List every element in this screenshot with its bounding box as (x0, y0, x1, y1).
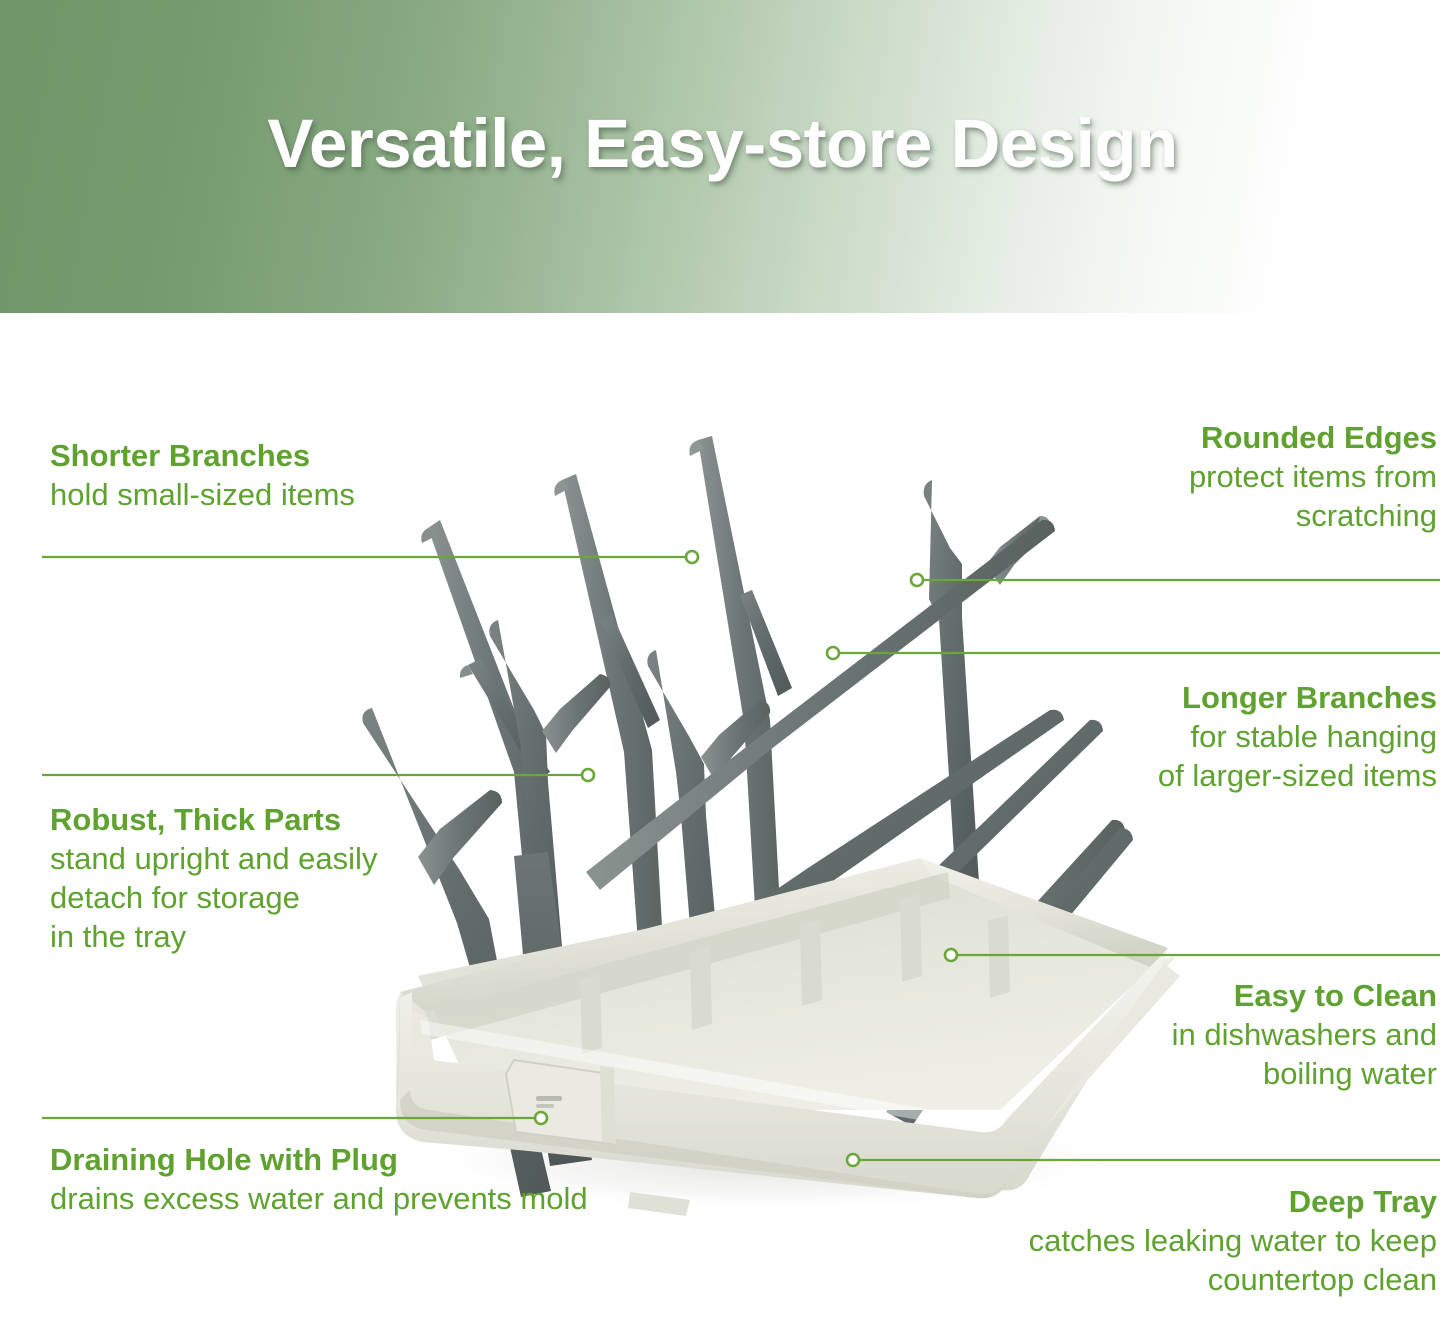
callout-title-rounded-edges: Rounded Edges (877, 418, 1437, 457)
callout-body-deep-tray-line2: countertop clean (797, 1260, 1437, 1299)
draining-plug (506, 1060, 616, 1144)
callout-body-longer-branches-line2: of larger-sized items (877, 756, 1437, 795)
callout-title-easy-to-clean: Easy to Clean (877, 976, 1437, 1015)
callout-deep-tray: Deep Tray catches leaking water to keep … (797, 1182, 1437, 1299)
page-title: Versatile, Easy-store Design (0, 104, 1445, 183)
callout-rounded-edges: Rounded Edges protect items from scratch… (877, 418, 1437, 535)
callout-robust-thick-parts: Robust, Thick Parts stand upright and ea… (50, 800, 570, 956)
callout-body-easy-to-clean-line1: in dishwashers and (877, 1015, 1437, 1054)
callout-body-robust-line1: stand upright and easily (50, 839, 570, 878)
callout-title-robust-thick-parts: Robust, Thick Parts (50, 800, 570, 839)
callout-title-draining-hole: Draining Hole with Plug (50, 1140, 830, 1179)
callout-body-easy-to-clean-line2: boiling water (877, 1054, 1437, 1093)
callout-body-robust-line3: in the tray (50, 917, 570, 956)
callout-body-rounded-edges-line1: protect items from (877, 457, 1437, 496)
callout-body-deep-tray-line1: catches leaking water to keep (797, 1221, 1437, 1260)
callout-body-rounded-edges-line2: scratching (877, 496, 1437, 535)
callout-title-longer-branches: Longer Branches (877, 678, 1437, 717)
infographic-page: Versatile, Easy-store Design (0, 0, 1445, 1326)
callout-body-draining-hole-line1: drains excess water and prevents mold (50, 1179, 830, 1218)
callout-body-longer-branches-line1: for stable hanging (877, 717, 1437, 756)
callout-easy-to-clean: Easy to Clean in dishwashers and boiling… (877, 976, 1437, 1093)
callout-title-shorter-branches: Shorter Branches (50, 436, 490, 475)
callout-body-shorter-branches: hold small-sized items (50, 475, 490, 514)
callout-title-deep-tray: Deep Tray (797, 1182, 1437, 1221)
header-band: Versatile, Easy-store Design (0, 0, 1445, 313)
callout-body-robust-line2: detach for storage (50, 878, 570, 917)
callout-shorter-branches: Shorter Branches hold small-sized items (50, 436, 490, 514)
callout-longer-branches: Longer Branches for stable hanging of la… (877, 678, 1437, 795)
callout-draining-hole: Draining Hole with Plug drains excess wa… (50, 1140, 830, 1218)
